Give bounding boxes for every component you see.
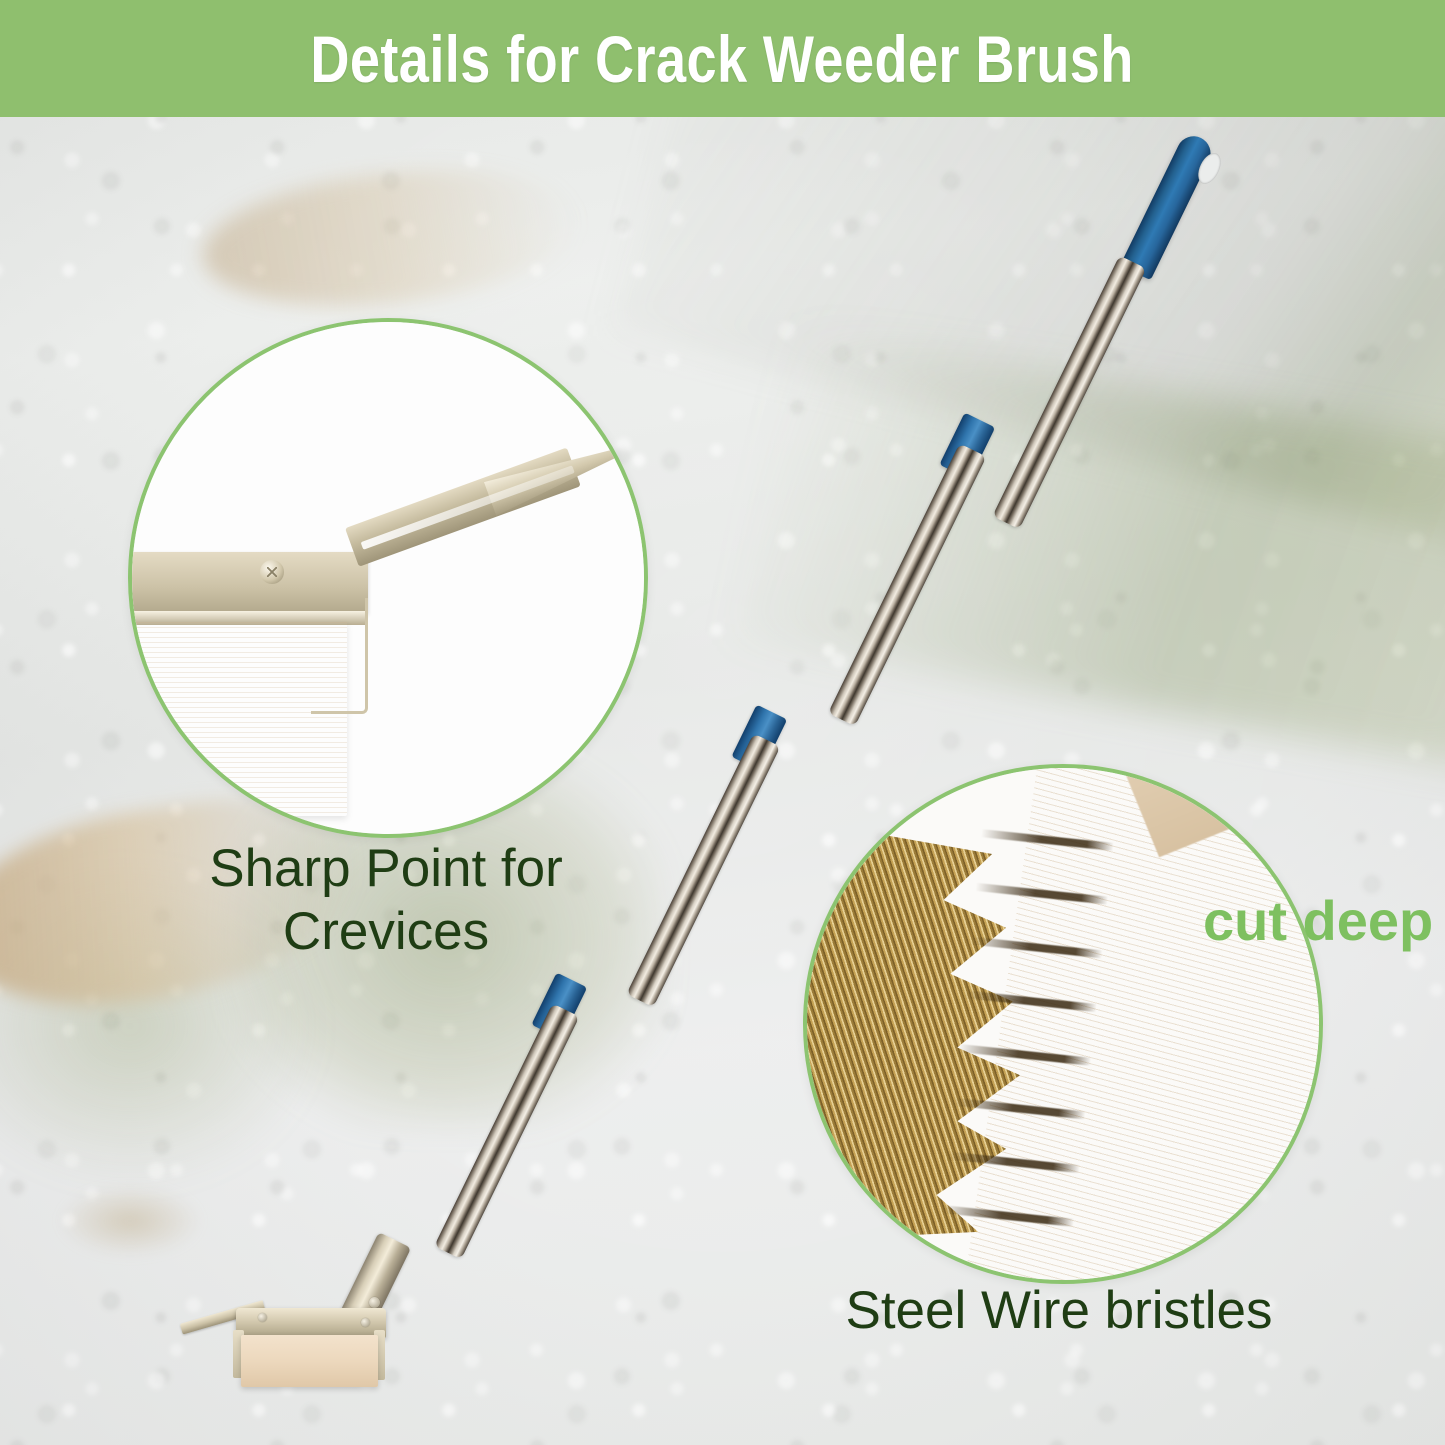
overlay-cut-deep: cut deep (1203, 888, 1433, 953)
callout-sharp-point (128, 318, 648, 838)
detail-screw (260, 560, 284, 584)
header-banner: Details for Crack Weeder Brush (0, 0, 1445, 117)
callout-bristles-image (807, 768, 1319, 1280)
detail-bracket-hook (311, 598, 368, 714)
callout-steel-wire-bristles (803, 764, 1323, 1284)
caption-steel-wire-bristles: Steel Wire bristles (803, 1280, 1315, 1343)
callout-sharp-point-image (132, 322, 644, 834)
caption-sharp-point: Sharp Point for Crevices (130, 838, 642, 963)
page-title: Details for Crack Weeder Brush (311, 21, 1134, 97)
product-detail-image: Details for Crack Weeder Brush (0, 0, 1445, 1445)
